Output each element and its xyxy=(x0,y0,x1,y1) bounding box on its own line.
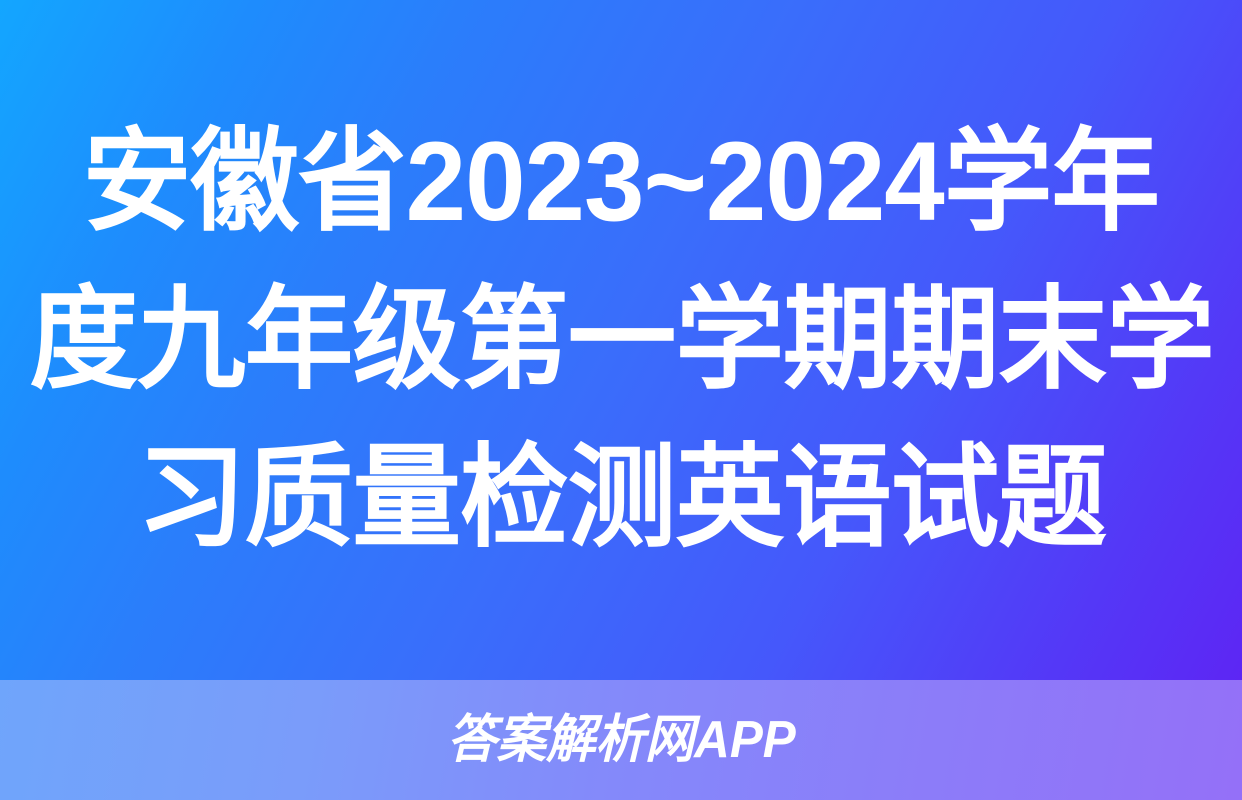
page-title: 安徽省2023~2024学年 度九年级第一学期期末学 习质量检测英语试题 xyxy=(66,108,1176,571)
footer-watermark-band: 答案解析网APP xyxy=(0,680,1242,800)
brand-watermark: 答案解析网APP xyxy=(447,714,796,766)
hero-gradient-panel: 安徽省2023~2024学年 度九年级第一学期期末学 习质量检测英语试题 xyxy=(0,0,1242,680)
poster-root: 安徽省2023~2024学年 度九年级第一学期期末学 习质量检测英语试题 答案解… xyxy=(0,0,1242,800)
title-line-2: 度九年级第一学期期末学 xyxy=(29,266,1213,414)
title-line-3: 习质量检测英语试题 xyxy=(136,424,1105,572)
title-line-1: 安徽省2023~2024学年 xyxy=(83,108,1159,256)
